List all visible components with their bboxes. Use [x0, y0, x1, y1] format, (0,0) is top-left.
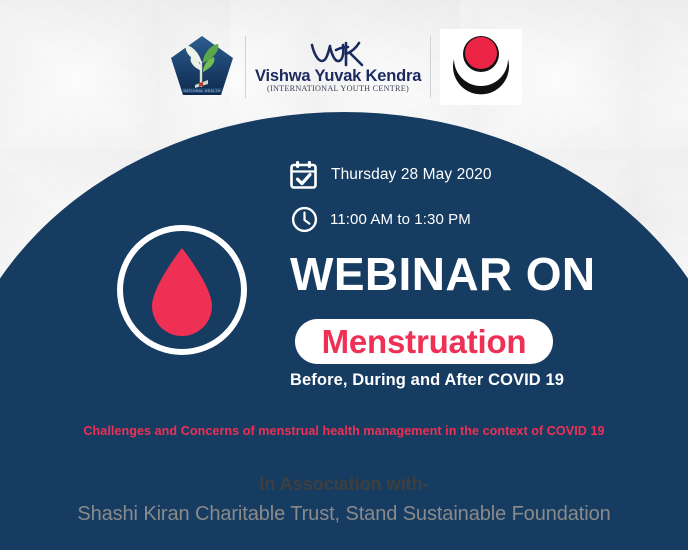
red-dot-crescent-logo — [440, 29, 522, 105]
webinar-poster: NATIONAL HEALTH Vishwa Yuvak Kendr — [0, 0, 688, 550]
page-title: WEBINAR ON — [290, 250, 620, 298]
logo-divider-1 — [245, 36, 246, 98]
title-highlight-text: Menstruation — [322, 323, 527, 361]
red-dot-crescent-logo-cell — [440, 26, 522, 108]
title-highlight-pill: Menstruation — [295, 319, 553, 364]
time-row: 11:00 AM to 1:30 PM — [291, 206, 471, 233]
date-row: Thursday 28 May 2020 — [289, 160, 492, 190]
association-partners: Shashi Kiran Charitable Trust, Stand Sus… — [0, 503, 688, 526]
date-text: Thursday 28 May 2020 — [331, 166, 492, 184]
logo-divider-2 — [430, 36, 431, 98]
clock-icon — [291, 206, 318, 233]
blood-drop-icon — [152, 248, 212, 336]
logo-strip: NATIONAL HEALTH Vishwa Yuvak Kendr — [168, 26, 530, 108]
vishwa-yuvak-kendra-logo-cell: Vishwa Yuvak Kendra (INTERNATIONAL YOUTH… — [255, 26, 421, 108]
vishwa-yuvak-kendra-logo: Vishwa Yuvak Kendra (INTERNATIONAL YOUTH… — [255, 41, 421, 94]
pentagon-tree-emblem: NATIONAL HEALTH — [168, 33, 236, 101]
svg-text:NATIONAL HEALTH: NATIONAL HEALTH — [184, 89, 221, 93]
theme-text: Challenges and Concerns of menstrual hea… — [0, 424, 688, 438]
association-heading: In Association with- — [0, 474, 688, 495]
pentagon-tree-emblem-cell: NATIONAL HEALTH — [168, 26, 236, 108]
title-subtitle: Before, During and After COVID 19 — [290, 371, 630, 390]
calendar-check-icon — [289, 160, 318, 190]
vyk-subtitle: (INTERNATIONAL YOUTH CENTRE) — [255, 85, 421, 93]
vyk-calligraphy-mark — [306, 41, 370, 67]
section-divider — [0, 450, 688, 453]
blood-drop-badge — [112, 220, 252, 360]
vyk-title: Vishwa Yuvak Kendra — [255, 68, 421, 85]
time-text: 11:00 AM to 1:30 PM — [330, 211, 471, 228]
